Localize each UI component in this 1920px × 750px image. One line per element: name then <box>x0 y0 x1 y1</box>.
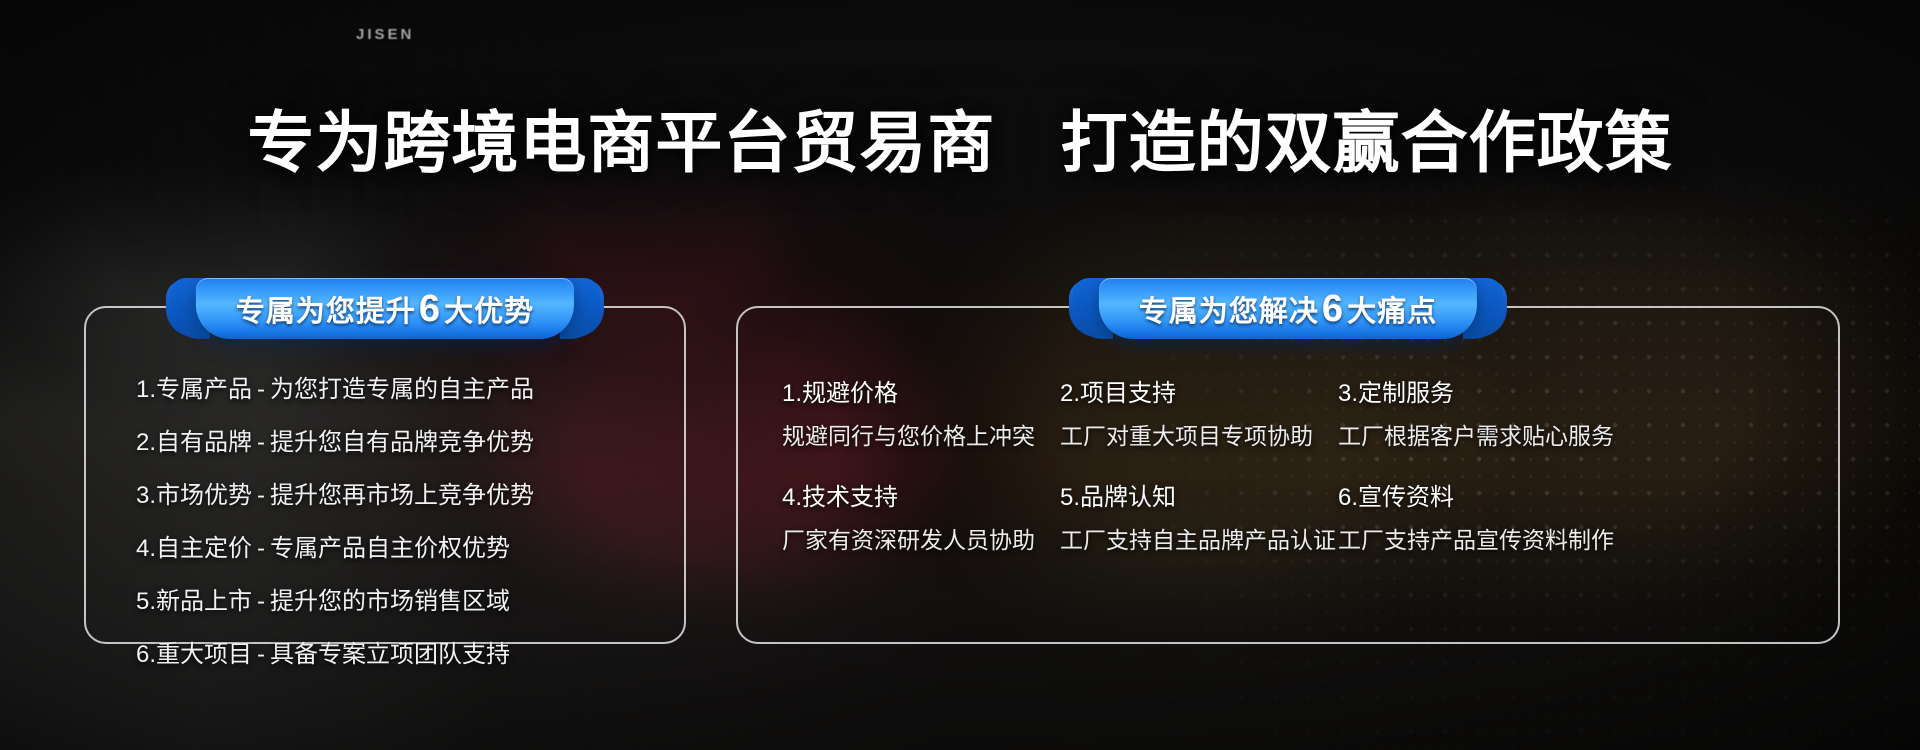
list-item: 6.重大项目-具备专案立项团队支持 <box>136 643 656 667</box>
item-index: 3. <box>136 482 156 509</box>
item-title-line: 5.品牌认知 <box>1060 486 1338 510</box>
item-title-line: 2.项目支持 <box>1060 382 1338 406</box>
item-title-line: 4.技术支持 <box>782 486 1060 510</box>
item-title: 自有品牌 <box>156 429 252 456</box>
item-desc: 为您打造专属的自主产品 <box>270 376 534 403</box>
list-item: 2.自有品牌-提升您自有品牌竞争优势 <box>136 431 656 455</box>
item-desc: 工厂根据客户需求贴心服务 <box>1338 425 1620 448</box>
item-separator: - <box>252 588 270 615</box>
item-title: 规避价格 <box>802 380 898 407</box>
item-title-line: 3.定制服务 <box>1338 382 1620 406</box>
painpoints-badge-wrap: 专属为您解决 6 大痛点 <box>1099 278 1477 339</box>
list-item: 5.品牌认知 工厂支持自主品牌产品认证 <box>1060 486 1338 552</box>
item-title: 自主定价 <box>156 535 252 562</box>
badge-right-tab-icon <box>562 280 604 337</box>
item-index: 5. <box>1060 484 1080 511</box>
item-desc: 厂家有资深研发人员协助 <box>782 529 1060 552</box>
item-desc: 提升您的市场销售区域 <box>270 588 510 615</box>
advantages-panel: 专属为您提升 6 大优势 1.专属产品-为您打造专属的自主产品 2.自有品牌-提… <box>84 306 686 644</box>
list-item: 2.项目支持 工厂对重大项目专项协助 <box>1060 382 1338 448</box>
item-desc: 工厂支持产品宣传资料制作 <box>1338 529 1620 552</box>
painpoints-badge-number: 6 <box>1322 290 1344 328</box>
list-item: 3.定制服务 工厂根据客户需求贴心服务 <box>1338 382 1620 448</box>
painpoints-panel: 专属为您解决 6 大痛点 1.规避价格 规避同行与您价格上冲突 2.项目支持 工… <box>736 306 1840 644</box>
item-title: 定制服务 <box>1358 380 1454 407</box>
item-desc: 具备专案立项团队支持 <box>270 641 510 668</box>
panels-container: 专属为您提升 6 大优势 1.专属产品-为您打造专属的自主产品 2.自有品牌-提… <box>0 306 1920 650</box>
item-index: 3. <box>1338 380 1358 407</box>
advantages-badge-number: 6 <box>419 290 441 328</box>
painpoints-badge-text: 专属为您解决 6 大痛点 <box>1139 290 1437 328</box>
item-desc: 专属产品自主价权优势 <box>270 535 510 562</box>
item-title: 新品上市 <box>156 588 252 615</box>
advantages-list: 1.专属产品-为您打造专属的自主产品 2.自有品牌-提升您自有品牌竞争优势 3.… <box>136 378 656 667</box>
list-item: 1.规避价格 规避同行与您价格上冲突 <box>782 382 1060 448</box>
item-separator: - <box>252 482 270 509</box>
item-title-line: 1.规避价格 <box>782 382 1060 406</box>
item-title: 宣传资料 <box>1358 484 1454 511</box>
advantages-badge-prefix: 专属为您提升 <box>236 298 416 327</box>
item-index: 2. <box>1060 380 1080 407</box>
item-title: 重大项目 <box>156 641 252 668</box>
item-separator: - <box>252 535 270 562</box>
item-title: 项目支持 <box>1080 380 1176 407</box>
item-separator: - <box>252 376 270 403</box>
banner-stage: JISEN 专为跨境电商平台贸易商 打造的双赢合作政策 专属为您提升 6 大优势 <box>0 0 1920 750</box>
item-index: 5. <box>136 588 156 615</box>
painpoints-badge-prefix: 专属为您解决 <box>1139 298 1319 327</box>
machine-brand-label: JISEN <box>356 26 414 43</box>
item-index: 1. <box>782 380 802 407</box>
list-item: 6.宣传资料 工厂支持产品宣传资料制作 <box>1338 486 1620 552</box>
item-index: 6. <box>136 641 156 668</box>
page-title-part1: 专为跨境电商平台贸易商 <box>247 106 995 181</box>
painpoints-badge-suffix: 大痛点 <box>1347 298 1437 327</box>
badge-left-tab-icon <box>1069 280 1111 337</box>
list-item: 4.自主定价-专属产品自主价权优势 <box>136 537 656 561</box>
item-separator: - <box>252 429 270 456</box>
item-desc: 规避同行与您价格上冲突 <box>782 425 1060 448</box>
item-desc: 提升您自有品牌竞争优势 <box>270 429 534 456</box>
item-index: 4. <box>782 484 802 511</box>
item-desc: 提升您再市场上竞争优势 <box>270 482 534 509</box>
item-index: 6. <box>1338 484 1358 511</box>
painpoints-grid: 1.规避价格 规避同行与您价格上冲突 2.项目支持 工厂对重大项目专项协助 3.… <box>738 382 1838 552</box>
badge-right-tab-icon <box>1465 280 1507 337</box>
list-item: 3.市场优势-提升您再市场上竞争优势 <box>136 484 656 508</box>
item-title-line: 6.宣传资料 <box>1338 486 1620 510</box>
advantages-badge: 专属为您提升 6 大优势 <box>196 278 574 339</box>
advantages-badge-suffix: 大优势 <box>444 298 534 327</box>
item-index: 1. <box>136 376 156 403</box>
badge-left-tab-icon <box>166 280 208 337</box>
painpoints-badge: 专属为您解决 6 大痛点 <box>1099 278 1477 339</box>
list-item: 1.专属产品-为您打造专属的自主产品 <box>136 378 656 402</box>
item-title: 专属产品 <box>156 376 252 403</box>
item-title: 市场优势 <box>156 482 252 509</box>
item-separator: - <box>252 641 270 668</box>
list-item: 5.新品上市-提升您的市场销售区域 <box>136 590 656 614</box>
advantages-badge-text: 专属为您提升 6 大优势 <box>236 290 534 328</box>
page-title: 专为跨境电商平台贸易商 打造的双赢合作政策 <box>0 110 1920 177</box>
item-title: 品牌认知 <box>1080 484 1176 511</box>
list-item: 4.技术支持 厂家有资深研发人员协助 <box>782 486 1060 552</box>
item-index: 2. <box>136 429 156 456</box>
advantages-badge-wrap: 专属为您提升 6 大优势 <box>196 278 574 339</box>
page-title-part2: 打造的双赢合作政策 <box>1061 106 1673 181</box>
item-desc: 工厂对重大项目专项协助 <box>1060 425 1338 448</box>
item-title: 技术支持 <box>802 484 898 511</box>
item-desc: 工厂支持自主品牌产品认证 <box>1060 529 1338 552</box>
item-index: 4. <box>136 535 156 562</box>
